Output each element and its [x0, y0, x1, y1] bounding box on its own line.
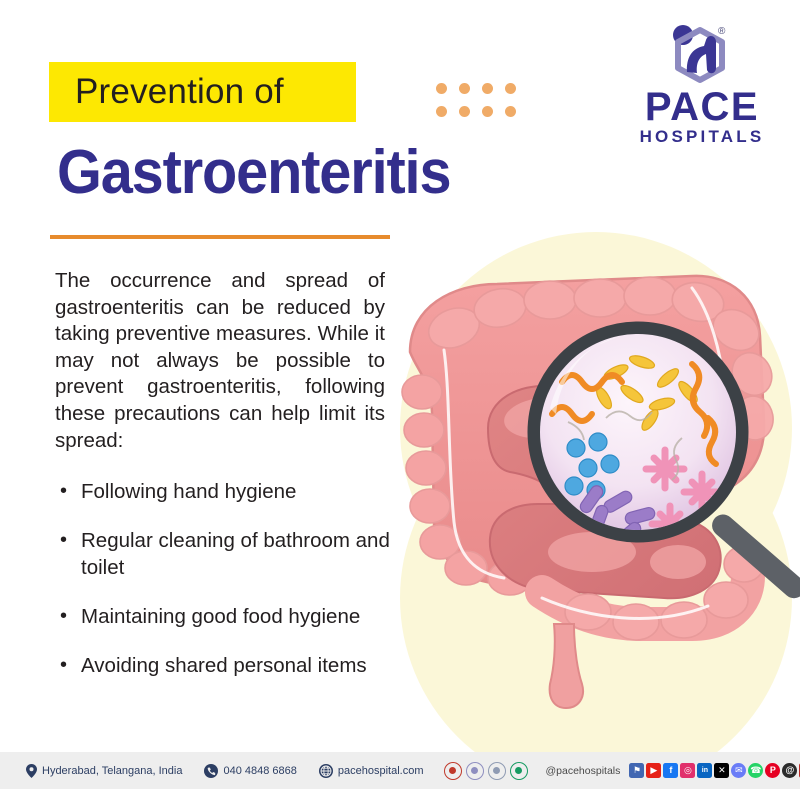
list-item: • Avoiding shared personal items	[55, 652, 395, 679]
logo-wordmark: PACE	[622, 86, 782, 128]
logo-subtitle: HOSPITALS	[622, 128, 782, 146]
phone-icon	[204, 764, 218, 778]
map-pin-icon	[26, 764, 37, 778]
infographic-page: Prevention of Gastroenteritis ® PACE HOS…	[0, 0, 800, 789]
accreditation-badges	[444, 762, 528, 780]
bullet-marker: •	[55, 478, 81, 505]
footer-phone-text: 040 4848 6868	[223, 765, 296, 777]
youtube-icon[interactable]: ▶	[646, 763, 661, 778]
nabl-badge-icon	[466, 762, 484, 780]
pace-hospitals-logo: ® PACE HOSPITALS	[622, 24, 782, 142]
facebook-icon[interactable]: f	[663, 763, 678, 778]
footer-location-text: Hyderabad, Telangana, India	[42, 765, 182, 777]
prevention-list: • Following hand hygiene • Regular clean…	[55, 478, 395, 701]
list-item: • Following hand hygiene	[55, 478, 395, 505]
green-accreditation-badge-icon	[510, 762, 528, 780]
bullet-marker: •	[55, 652, 81, 679]
social-handle: @pacehospitals	[546, 765, 621, 777]
list-item-label: Avoiding shared personal items	[81, 652, 395, 679]
footer-bar: Hyderabad, Telangana, India 040 4848 686…	[0, 752, 800, 789]
list-item: • Regular cleaning of bathroom and toile…	[55, 527, 395, 581]
list-item-label: Regular cleaning of bathroom and toilet	[81, 527, 395, 581]
intestine-with-magnifier-illustration	[392, 232, 800, 730]
list-item-label: Following hand hygiene	[81, 478, 395, 505]
linkedin-icon[interactable]: in	[697, 763, 712, 778]
x-twitter-icon[interactable]: ✕	[714, 763, 729, 778]
illustration-area	[392, 232, 800, 730]
list-item-label: Maintaining good food hygiene	[81, 603, 395, 630]
iso-badge-icon	[488, 762, 506, 780]
nabh-badge-icon	[444, 762, 462, 780]
title-divider	[50, 235, 390, 239]
pace-hexagon-figure-icon	[666, 24, 738, 86]
whatsapp-icon[interactable]: ☎	[748, 763, 763, 778]
bullet-marker: •	[55, 527, 81, 581]
social-blue-icon[interactable]: ⚑	[629, 763, 644, 778]
intro-paragraph: The occurrence and spread of gastroenter…	[55, 268, 385, 454]
page-title: Gastroenteritis	[57, 140, 450, 206]
footer-phone: 040 4848 6868	[204, 764, 296, 778]
globe-icon	[319, 764, 333, 778]
eyebrow-highlight: Prevention of	[49, 62, 356, 122]
bullet-marker: •	[55, 603, 81, 630]
list-item: • Maintaining good food hygiene	[55, 603, 395, 630]
instagram-icon[interactable]: ◎	[680, 763, 695, 778]
footer-website-text: pacehospital.com	[338, 765, 424, 777]
messenger-icon[interactable]: ✉	[731, 763, 746, 778]
dot-grid-decoration	[436, 83, 516, 121]
social-links: ⚑ ▶ f ◎ in ✕ ✉ ☎ P @ Q ♫	[629, 763, 800, 778]
footer-website[interactable]: pacehospital.com	[319, 764, 424, 778]
footer-location: Hyderabad, Telangana, India	[26, 764, 182, 778]
pinterest-icon[interactable]: P	[765, 763, 780, 778]
threads-icon[interactable]: @	[782, 763, 797, 778]
registered-trademark-symbol: ®	[718, 26, 725, 37]
eyebrow-text: Prevention of	[75, 71, 284, 113]
